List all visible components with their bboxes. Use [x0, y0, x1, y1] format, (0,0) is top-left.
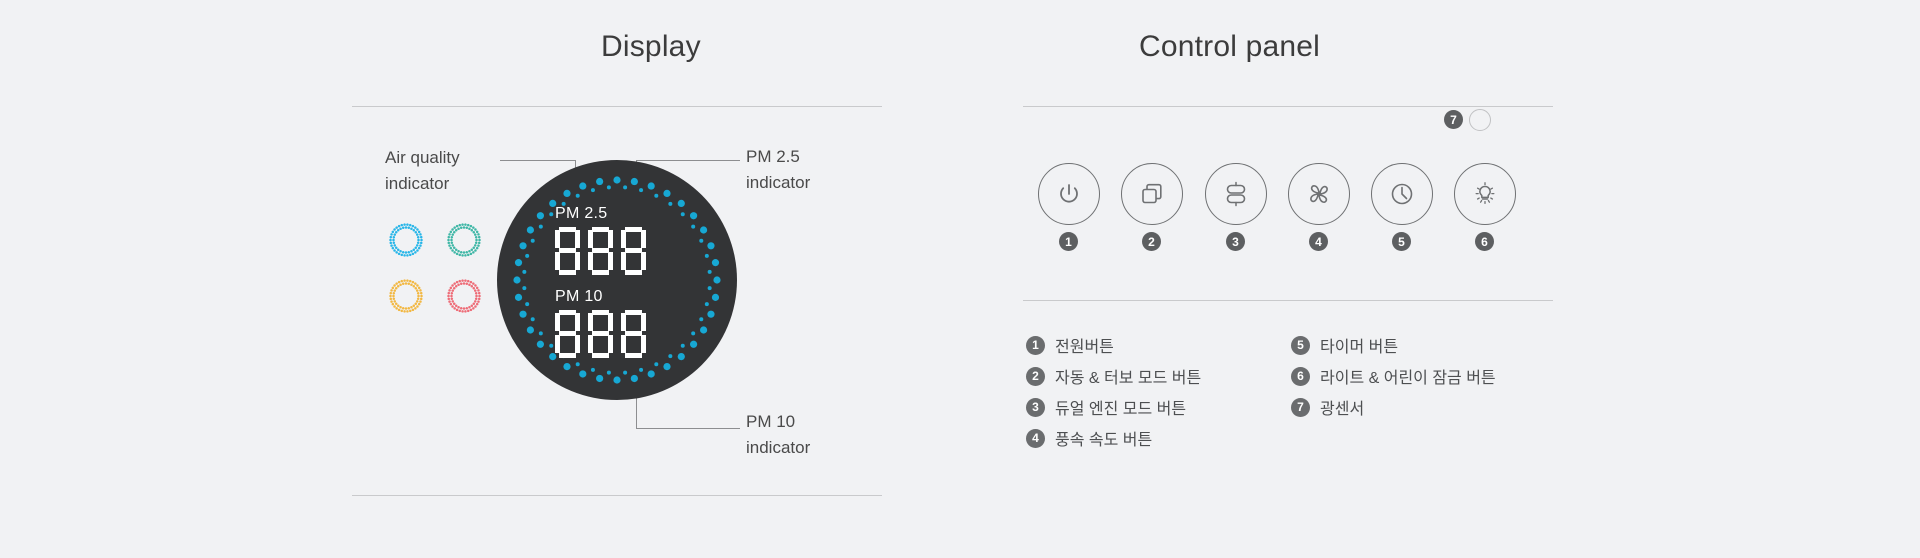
legend-item-label: 자동 & 터보 모드 버튼 [1055, 364, 1201, 388]
pm25-seven-segment-value [555, 227, 646, 275]
timer-icon [1387, 179, 1417, 209]
light-sensor-number: 7 [1444, 110, 1463, 129]
timer-button[interactable] [1371, 163, 1433, 225]
display-section-title: Display [601, 30, 701, 64]
light-lock-icon [1469, 178, 1501, 210]
legend-item-6: 6라이트 & 어린이 잠금 버튼 [1291, 364, 1496, 388]
pm25-callout-line2: indicator [746, 170, 810, 196]
air-quality-callout-line1: Air quality [385, 145, 460, 171]
pm10-readout-label: PM 10 [555, 288, 646, 306]
control-panel-top-rule [1023, 106, 1553, 107]
control-panel-section: Control panel 1 2 3 [960, 0, 1920, 558]
legend-item-5: 5타이머 버튼 [1291, 333, 1398, 357]
legend-item-number: 3 [1026, 398, 1045, 417]
legend-item-label: 듀얼 엔진 모드 버튼 [1055, 395, 1186, 419]
legend-item-label: 라이트 & 어린이 잠금 버튼 [1320, 364, 1496, 388]
seven-segment-digit [621, 310, 646, 358]
seven-segment-digit [621, 227, 646, 275]
control-panel-mid-rule [1023, 300, 1553, 301]
pm10-readout: PM 10 [555, 288, 646, 358]
auto-turbo-mode-button-number: 2 [1142, 232, 1161, 251]
seven-segment-digit [555, 227, 580, 275]
display-section: Display Air quality indicator PM 2.5 ind… [0, 0, 900, 558]
legend-item-4: 4풍속 속도 버튼 [1026, 426, 1152, 450]
air-quality-dot-ring [497, 160, 737, 400]
light-child-lock-button[interactable] [1454, 163, 1516, 225]
legend-item-2: 2자동 & 터보 모드 버튼 [1026, 364, 1201, 388]
fan-speed-button-number: 4 [1309, 232, 1328, 251]
auto-turbo-mode-button[interactable] [1121, 163, 1183, 225]
legend-item-number: 2 [1026, 367, 1045, 386]
pm10-seven-segment-value [555, 310, 646, 358]
legend-item-3: 3듀얼 엔진 모드 버튼 [1026, 395, 1186, 419]
legend-item-number: 1 [1026, 336, 1045, 355]
legend-item-number: 4 [1026, 429, 1045, 448]
legend-item-number: 6 [1291, 367, 1310, 386]
product-feature-diagram: Display Air quality indicator PM 2.5 ind… [0, 0, 1920, 558]
pm25-readout-label: PM 2.5 [555, 205, 646, 223]
auto-turbo-icon [1137, 179, 1167, 209]
legend-item-label: 전원버튼 [1055, 333, 1114, 357]
power-icon [1054, 179, 1084, 209]
fan-speed-icon [1304, 179, 1334, 209]
light-child-lock-button-number: 6 [1475, 232, 1494, 251]
pm25-readout: PM 2.5 [555, 205, 646, 275]
dual-engine-mode-button[interactable] [1205, 163, 1267, 225]
light-sensor-icon [1469, 109, 1491, 131]
seven-segment-digit [588, 227, 613, 275]
legend-item-7: 7광센서 [1291, 395, 1364, 419]
air-quality-callout-line2: indicator [385, 171, 460, 197]
power-button-number: 1 [1059, 232, 1078, 251]
display-bottom-rule [352, 495, 882, 496]
control-panel-title: Control panel [1139, 30, 1320, 64]
pm10-callout-line1: PM 10 [746, 409, 810, 435]
power-button[interactable] [1038, 163, 1100, 225]
pm25-callout-line1: PM 2.5 [746, 144, 810, 170]
fan-speed-button[interactable] [1288, 163, 1350, 225]
legend-item-label: 광센서 [1320, 395, 1364, 419]
display-top-rule [352, 106, 882, 107]
pm10-leader-horizontal [636, 428, 740, 429]
pm25-callout: PM 2.5 indicator [746, 144, 810, 196]
seven-segment-digit [555, 310, 580, 358]
legend-item-number: 7 [1291, 398, 1310, 417]
legend-item-number: 5 [1291, 336, 1310, 355]
pm10-callout-line2: indicator [746, 435, 810, 461]
legend-item-label: 타이머 버튼 [1320, 333, 1398, 357]
timer-button-number: 5 [1392, 232, 1411, 251]
air-quality-display-screen: PM 2.5 PM 10 [497, 160, 737, 400]
air-quality-indicator-rings [384, 218, 504, 318]
legend-item-1: 1전원버튼 [1026, 333, 1114, 357]
pm10-callout: PM 10 indicator [746, 409, 810, 461]
dual-engine-mode-button-number: 3 [1226, 232, 1245, 251]
dual-engine-icon [1220, 178, 1252, 210]
legend-item-label: 풍속 속도 버튼 [1055, 426, 1152, 450]
air-quality-callout: Air quality indicator [385, 145, 460, 197]
seven-segment-digit [588, 310, 613, 358]
